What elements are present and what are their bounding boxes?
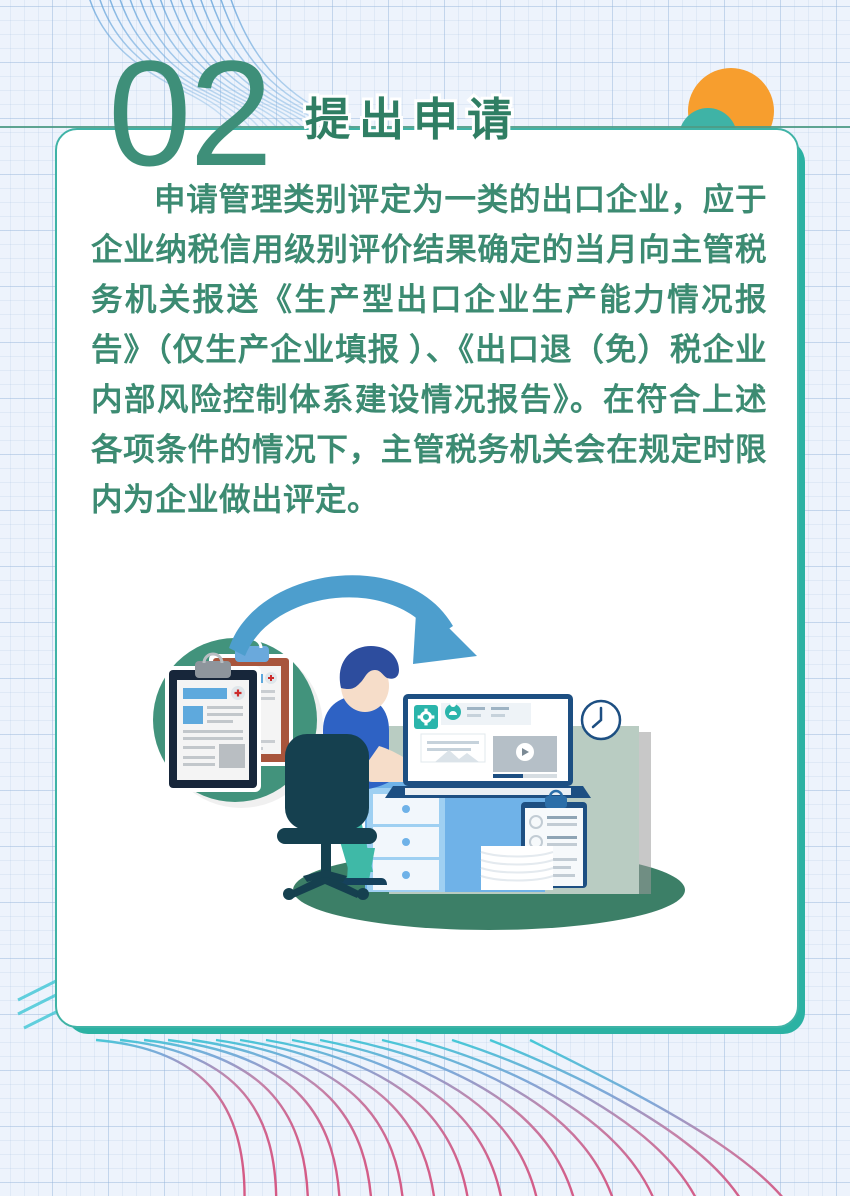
illustration <box>117 560 737 950</box>
body-paragraph: 申请管理类别评定为一类的出口企业，应于企业纳税信用级别评价结果确定的当月向主管税… <box>91 175 767 525</box>
page-title: 提出申请 <box>305 83 521 148</box>
infographic-page: 02 提出申请 申请管理类别评定为一类的出口企业，应于企业纳税信用级别评价结果确… <box>0 0 850 1196</box>
step-number: 02 <box>108 38 271 188</box>
laptop <box>385 694 591 798</box>
cabinet-drawers <box>373 794 439 890</box>
wall-shadow <box>637 732 651 894</box>
wall-clock <box>582 701 620 739</box>
content-card: 申请管理类别评定为一类的出口企业，应于企业纳税信用级别评价结果确定的当月向主管税… <box>55 128 799 1028</box>
front-clipboard <box>165 654 261 792</box>
